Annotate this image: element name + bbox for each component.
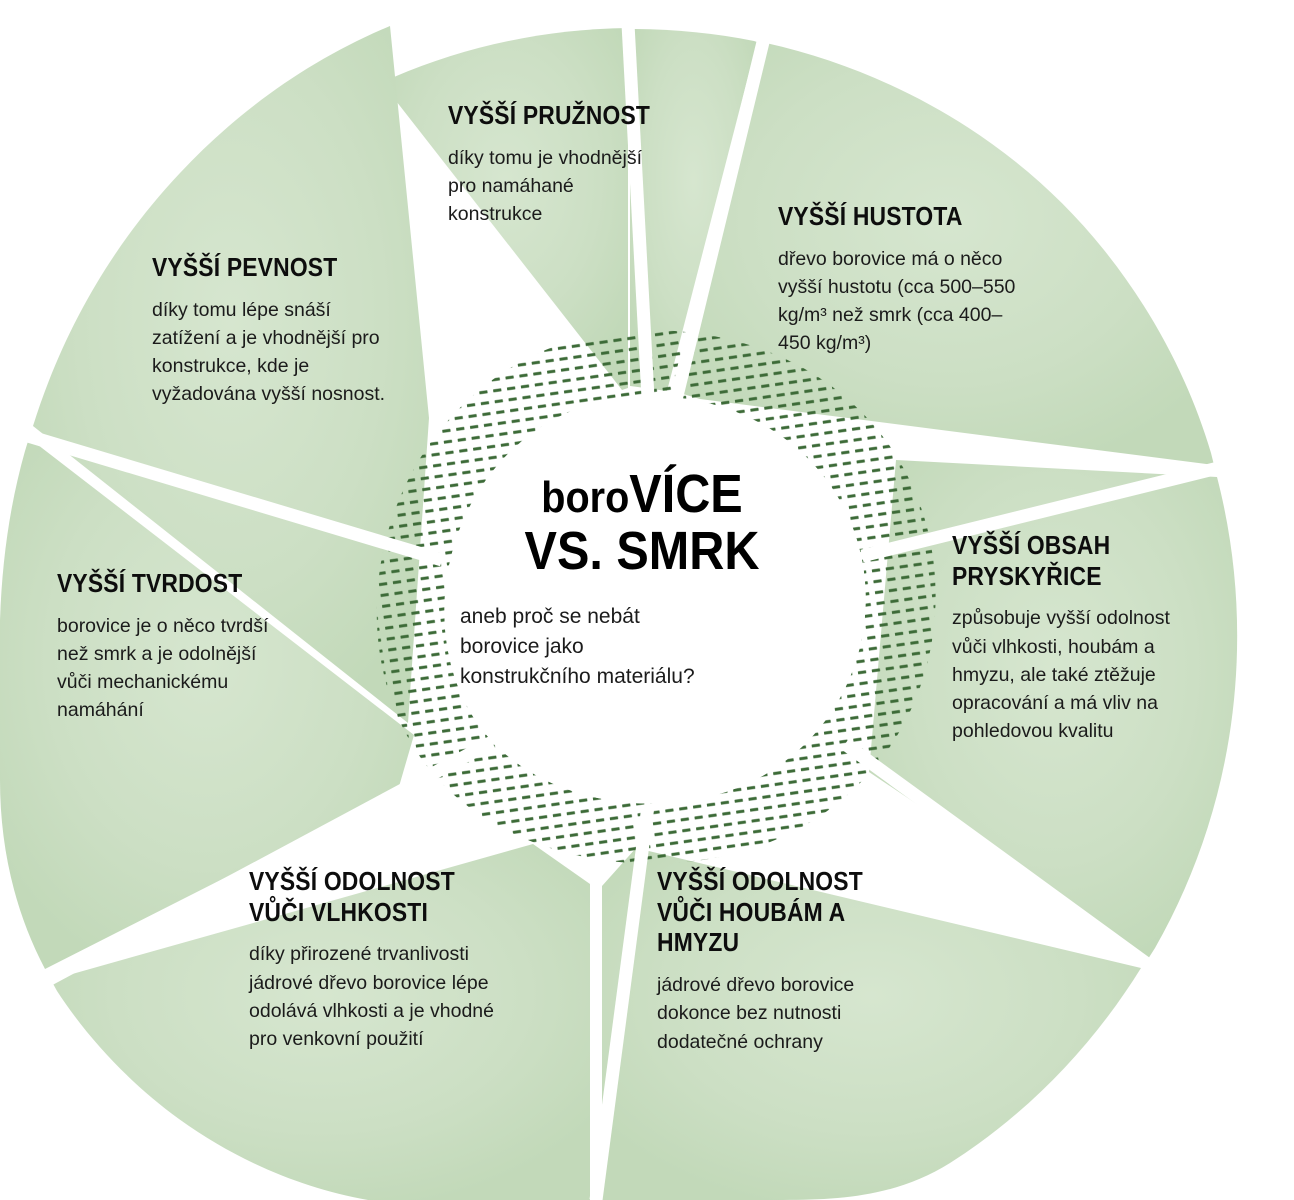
segment-title-vlhkost: VYŠŠÍ ODOLNOST VŮČI VLHKOSTI — [249, 866, 522, 927]
segment-label-vlhkost: VYŠŠÍ ODOLNOST VŮČI VLHKOSTI díky přiroz… — [249, 866, 559, 1053]
segment-title-houby: VYŠŠÍ ODOLNOST VŮČI HOUBÁM A HMYZU — [657, 866, 921, 958]
segment-title-hustota: VYŠŠÍ HUSTOTA — [778, 201, 1042, 232]
infographic-canvas: VYŠŠÍ PRUŽNOST díky tomu je vhodnější pr… — [0, 0, 1294, 1200]
segment-title-pruznost: VYŠŠÍ PRUŽNOST — [448, 100, 712, 131]
segment-body-vlhkost: díky přirozené trvanlivosti jádrové dřev… — [249, 940, 559, 1053]
segment-label-hustota: VYŠŠÍ HUSTOTA dřevo borovice má o něco v… — [778, 201, 1078, 358]
center-title-rest: VÍCE — [629, 464, 742, 524]
center-title-lead: boro — [541, 473, 629, 522]
center-subtitle: aneb proč se nebát borovice jako konstru… — [460, 602, 852, 691]
segment-label-tvrdost: VYŠŠÍ TVRDOST borovice je o něco tvrdší … — [57, 568, 347, 725]
segment-body-pryskyrice: způsobuje vyšší odolnost vůči vlhkosti, … — [952, 604, 1252, 745]
segment-label-pryskyrice: VYŠŠÍ OBSAH PRYSKYŘICE způsobuje vyšší o… — [952, 530, 1252, 746]
segment-label-pruznost: VYŠŠÍ PRUŽNOST díky tomu je vhodnější pr… — [448, 100, 748, 228]
segment-body-houby: jádrové dřevo borovice dokonce bez nutno… — [657, 971, 957, 1056]
center-title-line1: boroVÍCE — [453, 466, 831, 523]
segment-body-hustota: dřevo borovice má o něco vyšší hustotu (… — [778, 245, 1078, 358]
segment-title-pevnost: VYŠŠÍ PEVNOST — [152, 252, 416, 283]
segment-label-pevnost: VYŠŠÍ PEVNOST díky tomu lépe snáší zatíž… — [152, 252, 452, 409]
segment-title-tvrdost: VYŠŠÍ TVRDOST — [57, 568, 312, 599]
segment-body-pevnost: díky tomu lépe snáší zatížení a je vhodn… — [152, 296, 452, 409]
center-content: boroVÍCE VS. SMRK aneb proč se nebát bor… — [432, 466, 852, 692]
segment-title-pryskyrice: VYŠŠÍ OBSAH PRYSKYŘICE — [952, 530, 1216, 591]
center-title-line2: VS. SMRK — [453, 523, 831, 580]
segment-body-pruznost: díky tomu je vhodnější pro namáhané kons… — [448, 144, 748, 229]
segment-body-tvrdost: borovice je o něco tvrdší než smrk a je … — [57, 612, 347, 725]
segment-label-houby: VYŠŠÍ ODOLNOST VŮČI HOUBÁM A HMYZU jádro… — [657, 866, 957, 1056]
